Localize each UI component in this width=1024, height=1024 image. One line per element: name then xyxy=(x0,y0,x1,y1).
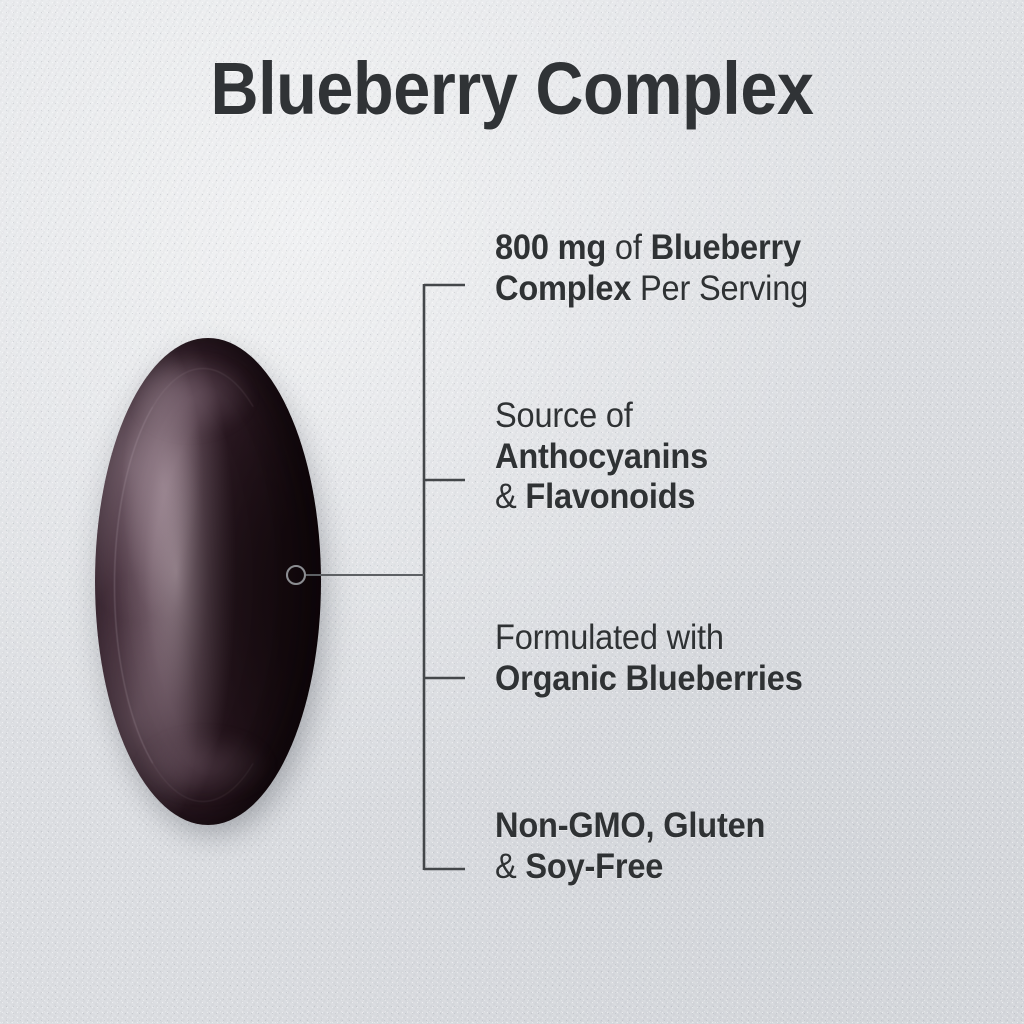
feature-text-bold: Flavonoids xyxy=(525,477,695,516)
softgel-capsule-image xyxy=(92,334,324,830)
feature-text-regular: of xyxy=(615,228,651,267)
feature-text-regular: & xyxy=(495,847,525,886)
feature-line: Formulated with xyxy=(495,618,803,659)
capsule-bottom-sheen xyxy=(140,732,270,798)
feature-text-regular: & xyxy=(495,477,525,516)
feature-text-bold: Non-GMO, Gluten xyxy=(495,806,765,845)
feature-text-bold: Complex xyxy=(495,269,640,308)
feature-line: Source of xyxy=(495,396,708,437)
feature-item-source: Source ofAnthocyanins& Flavonoids xyxy=(495,396,708,518)
feature-line: 800 mg of Blueberry xyxy=(495,228,808,269)
feature-line: Organic Blueberries xyxy=(495,659,803,700)
feature-line: Non-GMO, Gluten xyxy=(495,806,765,847)
feature-item-dose: 800 mg of BlueberryComplex Per Serving xyxy=(495,228,808,309)
feature-text-bold: Blueberry xyxy=(651,228,801,267)
feature-text-regular: Per Serving xyxy=(640,269,808,308)
feature-text-regular: Formulated with xyxy=(495,618,724,657)
feature-line: Anthocyanins xyxy=(495,437,708,478)
feature-text-bold: Soy-Free xyxy=(525,847,663,886)
feature-line: Complex Per Serving xyxy=(495,269,808,310)
feature-text-bold: Anthocyanins xyxy=(495,437,708,476)
feature-text-regular: Source of xyxy=(495,396,633,435)
feature-text-bold: 800 mg xyxy=(495,228,615,267)
page-title: Blueberry Complex xyxy=(51,52,973,126)
feature-item-organic: Formulated withOrganic Blueberries xyxy=(495,618,803,699)
product-infographic: Blueberry Complex 800 mg of BlueberryCom… xyxy=(0,0,1024,1024)
feature-line: & Soy-Free xyxy=(495,847,765,888)
feature-item-free-from: Non-GMO, Gluten& Soy-Free xyxy=(495,806,765,887)
feature-line: & Flavonoids xyxy=(495,477,708,518)
capsule-top-sheen xyxy=(136,360,254,438)
feature-text-bold: Organic Blueberries xyxy=(495,659,803,698)
